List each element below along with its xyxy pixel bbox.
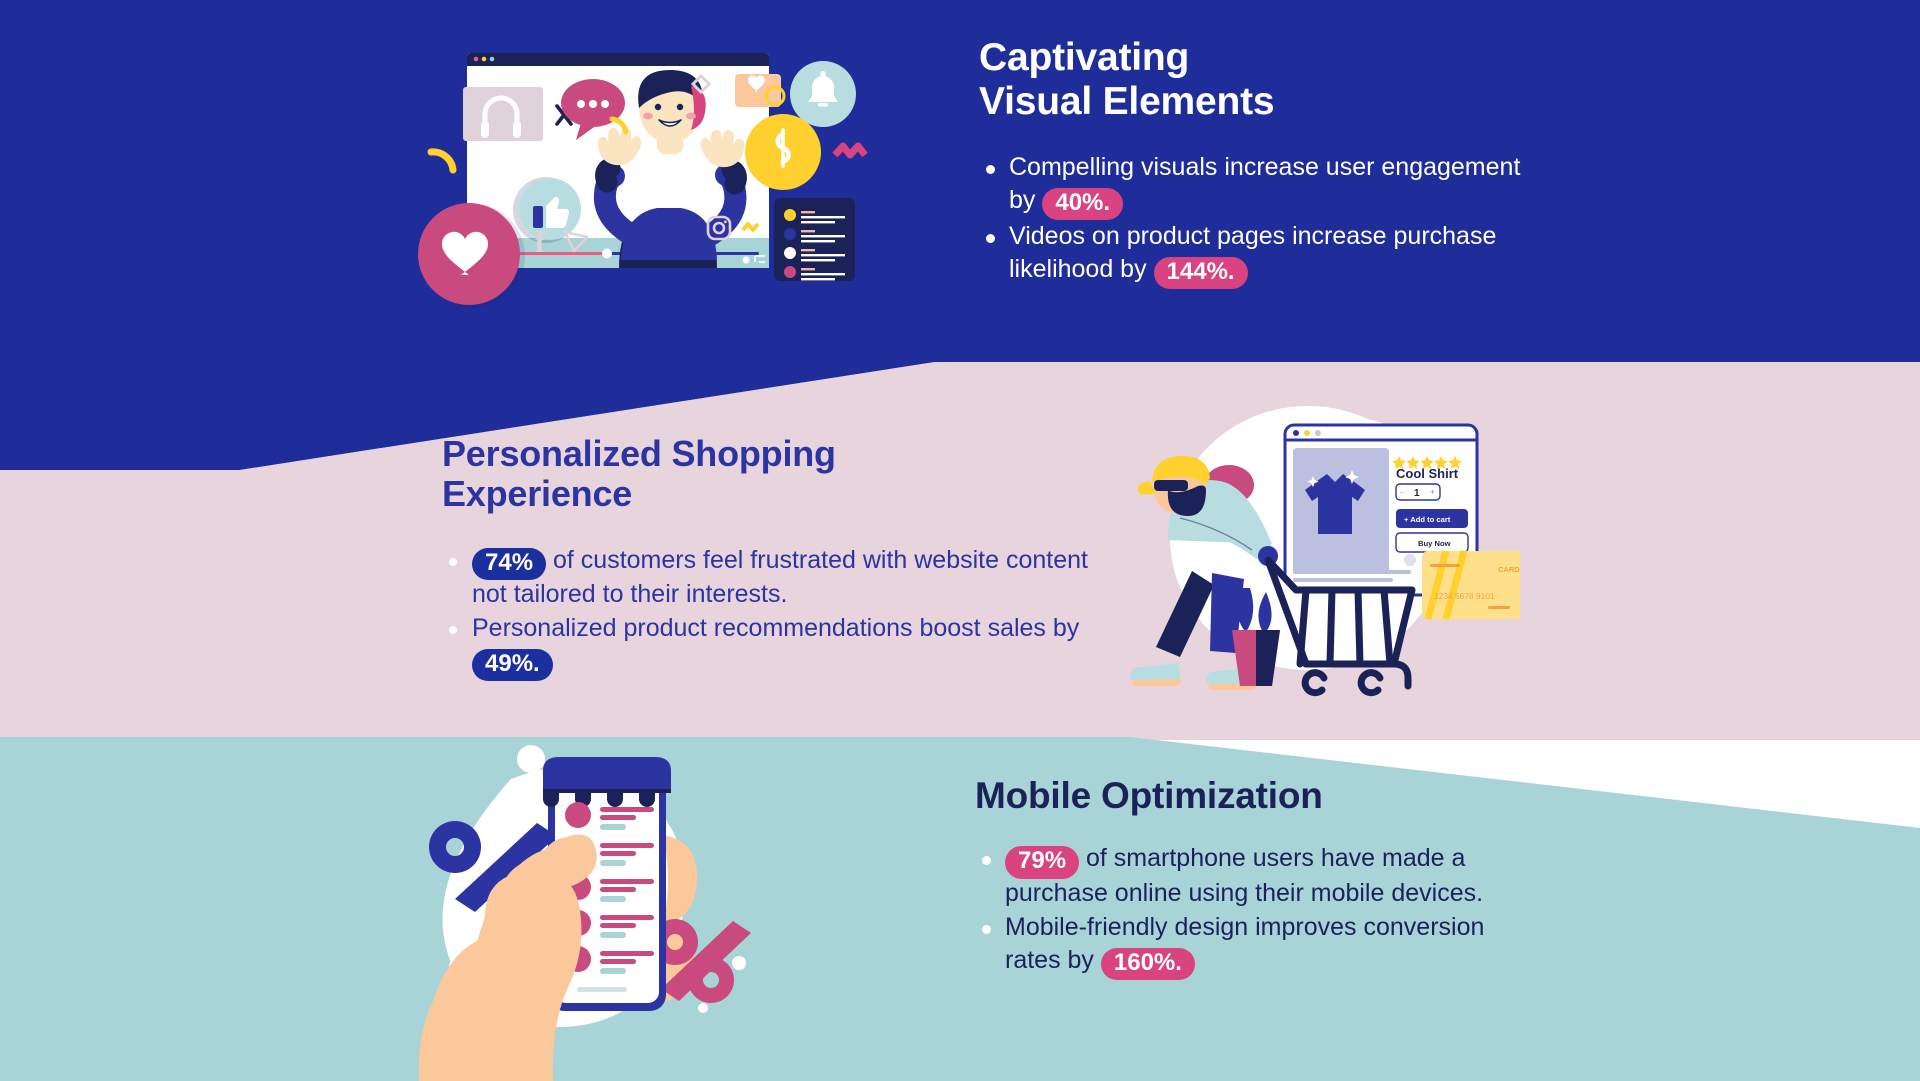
product-title: Cool Shirt [1396,466,1459,481]
section-1-heading-line-1: Captivating [979,36,1189,79]
bullet-dot-icon [449,626,457,634]
headphones-icon-card [463,87,543,141]
credit-card: CARD 1234 5678 9101 [1422,551,1520,619]
shoe-back [1130,663,1180,682]
section-1-bullet-list: Compelling visuals increase user engagem… [979,151,1539,287]
section-2-bullet-list: 74% of customers feel frustrated with we… [442,544,1102,680]
list-item: Mobile-friendly design improves conversi… [975,911,1495,978]
section-3-bullet-list: 79% of smartphone users have made a purc… [975,842,1495,978]
list-item: Videos on product pages increase purchas… [979,220,1539,287]
sunglasses [1154,480,1188,491]
section-personalized-shopping-experience: Personalized Shopping Experience 74% of … [442,434,1102,681]
notification-panel [774,198,855,281]
bullet-dot-icon [986,165,995,174]
band-teal [0,737,1920,1081]
bullet-dot-icon [982,925,991,934]
heart-card-icon [735,74,781,107]
svg-text:Buy Now: Buy Now [1418,539,1451,548]
stat-badge: 79% [1005,846,1079,878]
zigzag-pink [835,146,865,155]
stat-badge: 144%. [1154,257,1248,289]
bullet-text: Videos on product pages increase purchas… [1009,222,1496,283]
svg-text:+ Add to cart: + Add to cart [1404,515,1451,524]
list-item: Personalized product recommendations boo… [442,612,1102,679]
svg-text:1: 1 [1414,488,1420,499]
infographic-canvas: f [0,0,1920,1081]
social-video-illustration: f [405,24,885,314]
stat-badge: 49%. [472,649,553,681]
dot-white-1 [517,745,545,773]
arc-yellow-left [431,152,453,170]
coin-icon [745,114,821,190]
section-2-heading-line-1: Personalized Shopping [442,433,836,474]
stat-badge: 40%. [1042,188,1123,220]
list-item: 79% of smartphone users have made a purc… [975,842,1495,909]
dot-white-4 [732,956,746,970]
bell-icon [790,61,856,127]
zigzag-yellow [743,224,758,230]
section-2-heading-line-2: Experience [442,473,632,514]
bullet-text: Personalized product recommendations boo… [472,614,1079,642]
mobile-hand-illustration [415,735,765,1081]
orange-accent [663,835,697,925]
dot-white-5 [698,1003,708,1013]
svg-text:+: + [1430,487,1435,497]
bullet-dot-icon [982,856,991,865]
svg-text:CARD: CARD [1498,565,1520,574]
section-mobile-optimization: Mobile Optimization 79% of smartphone us… [975,775,1495,980]
section-2-heading: Personalized Shopping Experience [442,434,1102,515]
section-1-heading: Captivating Visual Elements [979,36,1539,123]
shop-awning [543,757,671,789]
bullet-text: Mobile-friendly design improves conversi… [1005,913,1484,974]
facebook-icon: f [535,226,546,259]
bullet-text: of customers feel frustrated with websit… [472,546,1088,608]
stat-badge: 160%. [1101,948,1195,980]
bullet-dot-icon [449,558,457,566]
bullet-dot-icon [986,234,995,243]
section-3-heading: Mobile Optimization [975,775,1495,816]
section-1-heading-line-2: Visual Elements [979,80,1274,123]
svg-text:1234 5678 9101: 1234 5678 9101 [1434,591,1495,601]
stat-badge: 74% [472,548,546,580]
section-captivating-visual-elements: Captivating Visual Elements Compelling v… [979,36,1539,289]
svg-text:-: - [1400,487,1403,497]
shopping-cart-illustration: Cool Shirt - 1 + + Add to cart Buy Now C… [1100,378,1520,708]
list-item: Compelling visuals increase user engagem… [979,151,1539,218]
list-item: 74% of customers feel frustrated with we… [442,544,1102,611]
heart-icon-large [418,203,525,308]
